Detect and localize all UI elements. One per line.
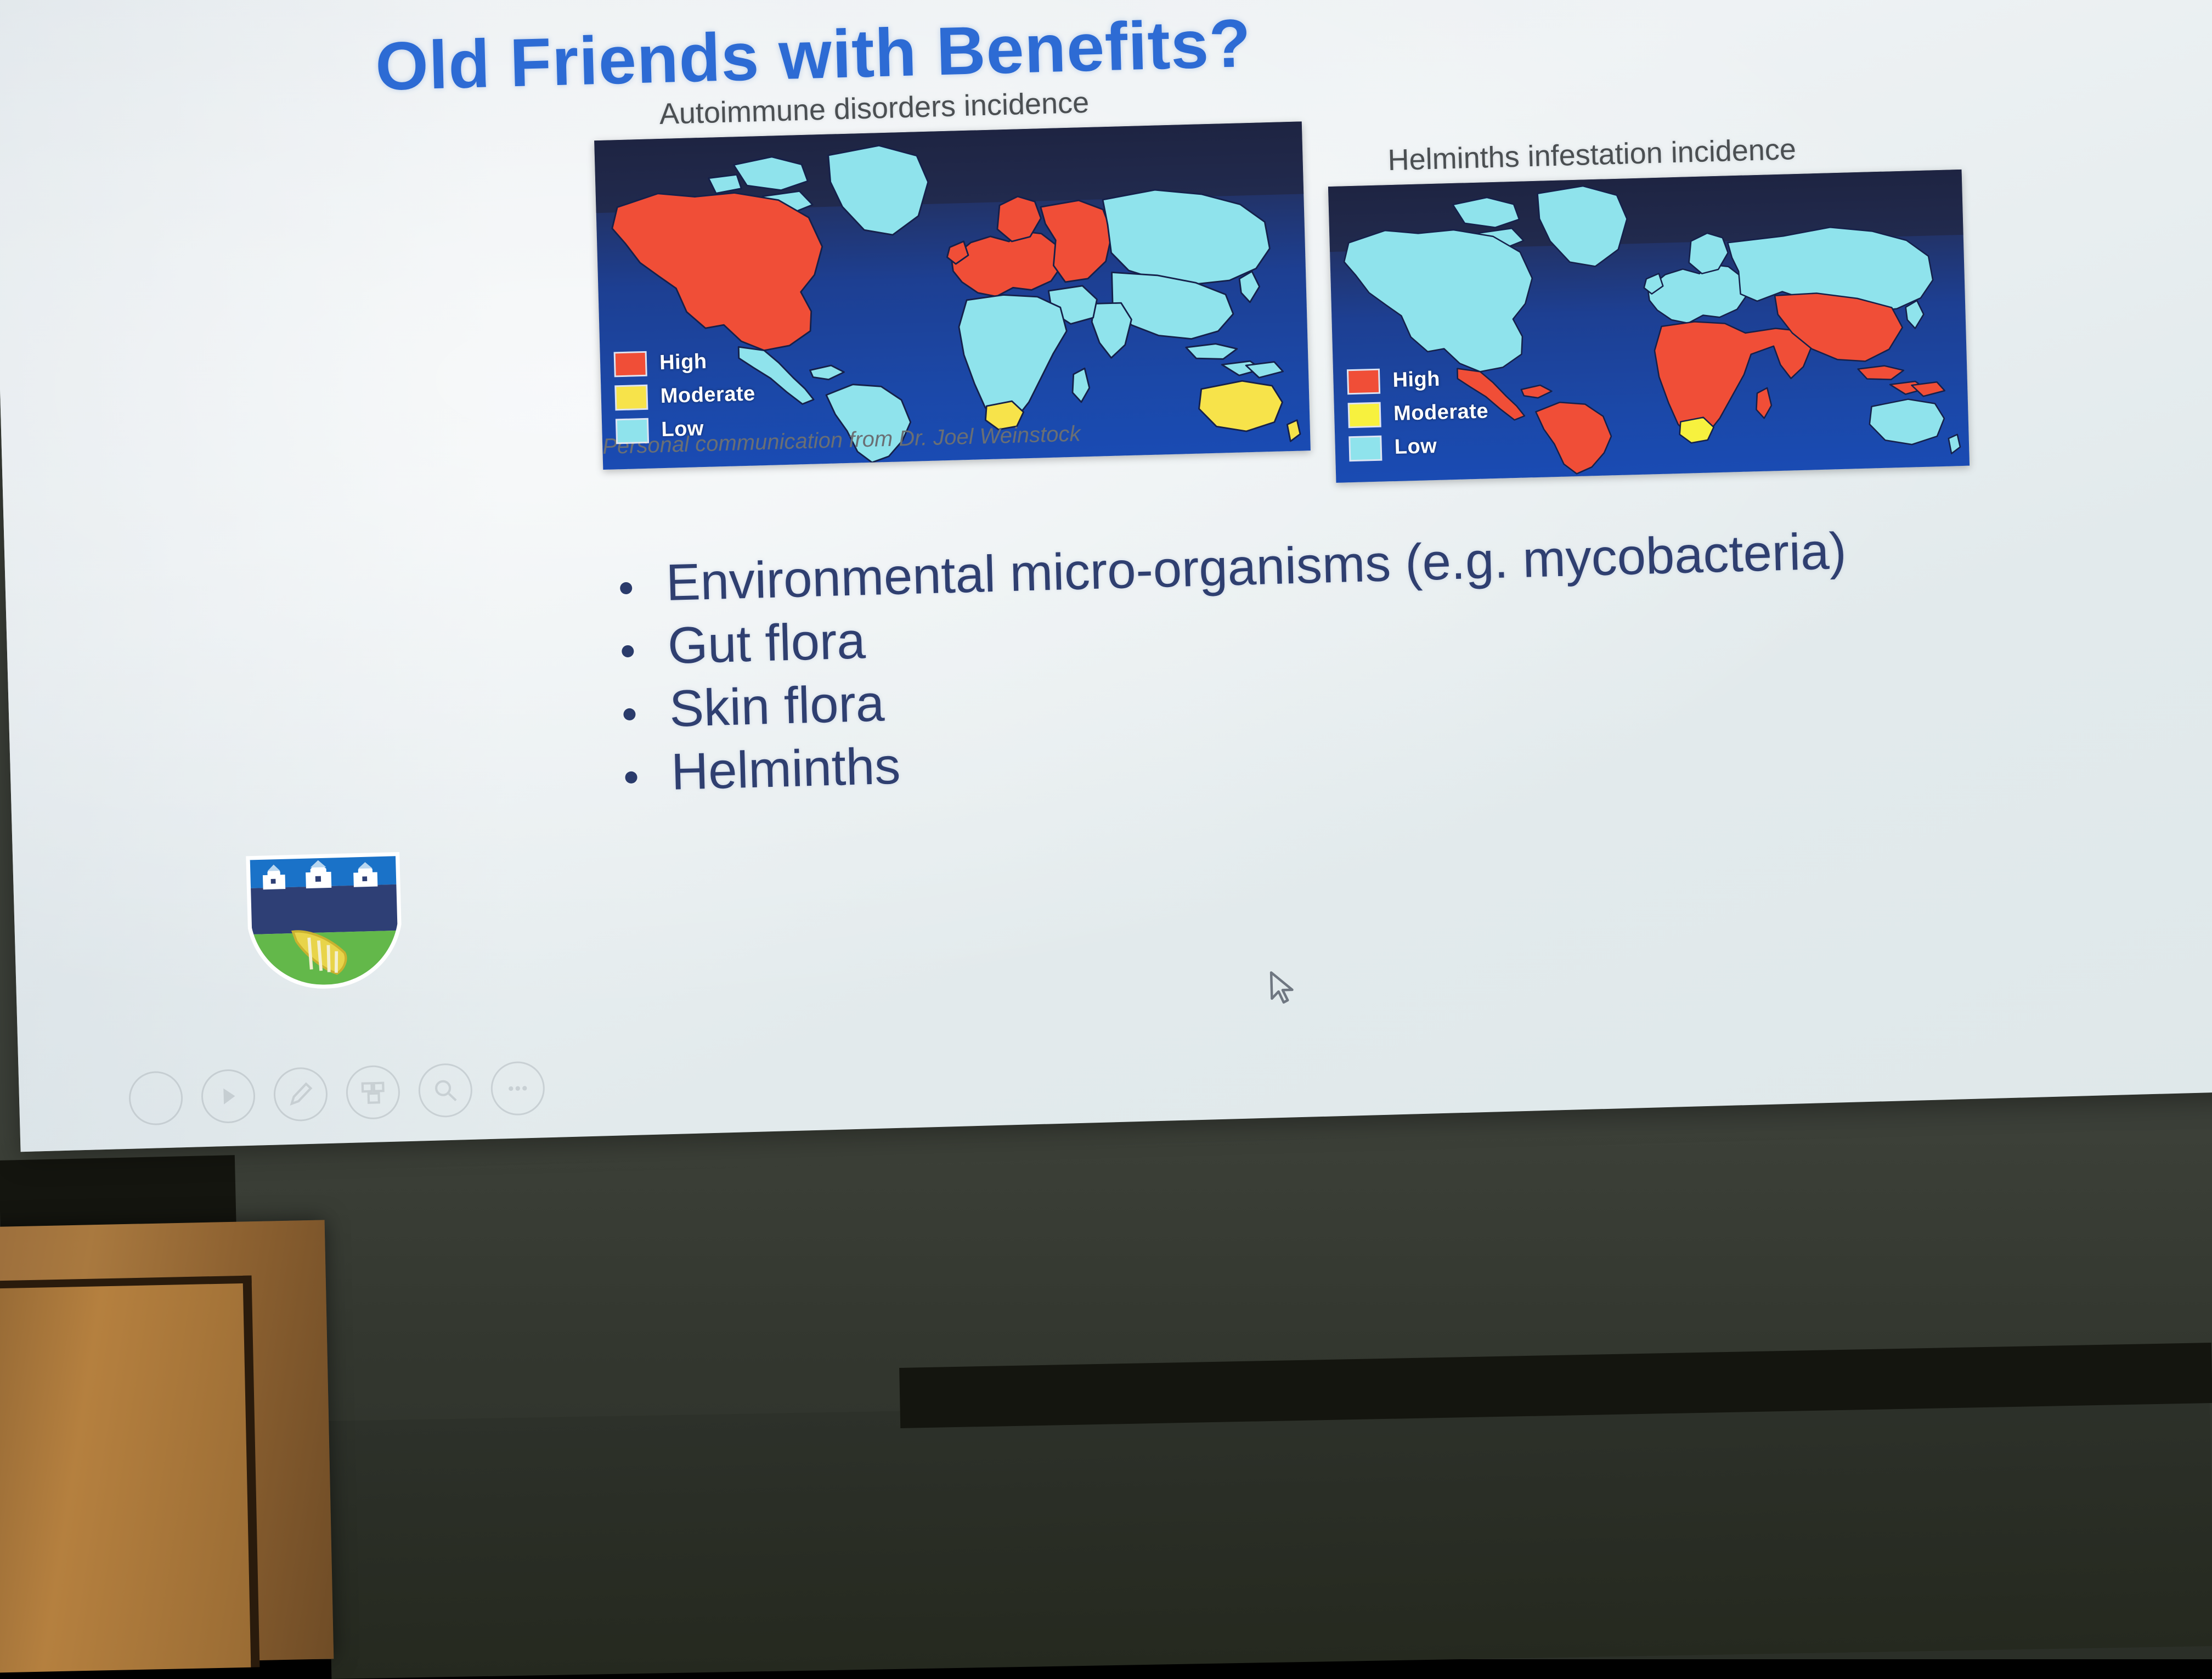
wall-shadow-band	[327, 1388, 2212, 1679]
projection-screen: Old Friends with Benefits? Autoimmune di…	[0, 0, 2212, 1152]
map-caption-helminths: Helminths infestation incidence	[1327, 128, 1961, 179]
bullet-list: Environmental micro-organisms (e.g. myco…	[619, 514, 2107, 805]
legend-row: High	[616, 349, 755, 376]
map-legend-autoimmune: High Moderate Low	[616, 349, 757, 453]
map-panel-helminths: Helminths infestation incidence	[1327, 128, 1970, 483]
more-button[interactable]	[490, 1061, 546, 1116]
legend-swatch-moderate	[616, 386, 646, 408]
pen-button[interactable]	[273, 1067, 329, 1122]
play-icon	[214, 1082, 242, 1110]
magnifier-icon	[431, 1077, 459, 1105]
zoom-button[interactable]	[418, 1063, 473, 1118]
legend-label-moderate: Moderate	[1393, 399, 1489, 426]
legend-row: Moderate	[1350, 399, 1489, 427]
bullet-dot-icon	[623, 708, 636, 720]
map-legend-helminths: High Moderate Low	[1348, 366, 1490, 470]
ucd-logo	[243, 850, 406, 992]
legend-row: High	[1348, 366, 1488, 393]
bullet-dot-icon	[625, 771, 637, 784]
bullet-text: Helminths	[670, 735, 901, 802]
legend-swatch-low	[617, 419, 647, 442]
legend-label-low: Low	[1394, 435, 1437, 459]
presentation-toolbar[interactable]	[161, 1061, 545, 1125]
map-panel-autoimmune: Autoimmune disorders incidence	[593, 80, 1311, 470]
cursor-arrow-icon	[1267, 969, 1301, 1008]
legend-row: Moderate	[616, 382, 755, 410]
legend-row: Low	[617, 415, 757, 443]
legend-swatch-moderate	[1350, 403, 1380, 426]
legend-swatch-high	[1348, 370, 1379, 392]
legend-swatch-low	[1350, 437, 1380, 459]
maps-container: Autoimmune disorders incidence	[592, 44, 2008, 510]
legend-label-high: High	[659, 350, 708, 375]
world-map-helminths: High Moderate Low	[1328, 170, 1970, 483]
legend-label-high: High	[1392, 368, 1441, 392]
presentation-slide: Old Friends with Benefits? Autoimmune di…	[155, 0, 2180, 1087]
lecture-room-scene: Old Friends with Benefits? Autoimmune di…	[0, 0, 2212, 1659]
previous-button[interactable]	[128, 1070, 184, 1126]
legend-label-low: Low	[661, 417, 704, 442]
bullet-text: Gut flora	[667, 610, 866, 677]
legend-swatch-high	[616, 352, 646, 375]
slides-grid-icon	[359, 1078, 387, 1106]
bullet-dot-icon	[620, 582, 633, 595]
pen-icon	[286, 1080, 314, 1108]
legend-row: Low	[1350, 433, 1489, 460]
bullet-text: Skin flora	[669, 673, 885, 739]
play-button[interactable]	[201, 1069, 256, 1124]
slides-grid-button[interactable]	[346, 1064, 401, 1120]
world-map-autoimmune: High Moderate Low	[594, 121, 1311, 470]
more-icon	[504, 1074, 532, 1102]
mouse-cursor	[1267, 969, 1301, 1008]
legend-label-moderate: Moderate	[660, 382, 755, 409]
bullet-dot-icon	[622, 645, 634, 658]
lectern-panel	[0, 1276, 259, 1674]
